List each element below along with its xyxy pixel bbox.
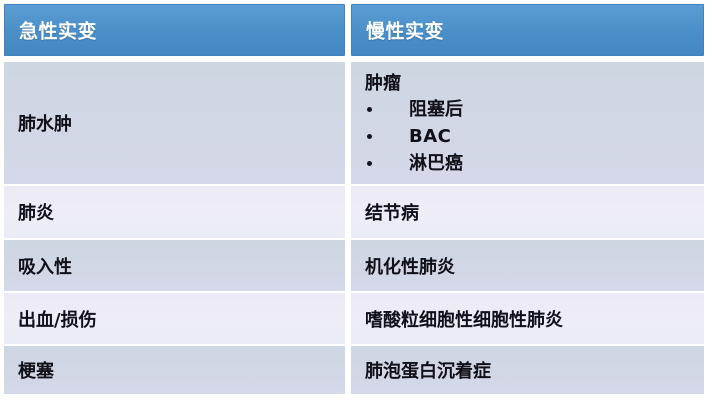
table-row: 出血/损伤 嗜酸粒细胞性细胞性肺炎 xyxy=(4,293,704,344)
row-3-chronic-label: 机化性肺炎 xyxy=(365,253,455,279)
table-row: 吸入性 机化性肺炎 xyxy=(4,240,704,291)
list-item: 阻塞后 xyxy=(365,96,696,123)
table-row: 梗塞 肺泡蛋白沉着症 xyxy=(4,346,704,394)
row-5-acute-label: 梗塞 xyxy=(18,357,54,383)
row-1-cell-chronic: 肿瘤 阻塞后 BAC 淋巴癌 xyxy=(351,62,704,184)
table-row: 肺炎 结节病 xyxy=(4,186,704,238)
row-4-cell-acute: 出血/损伤 xyxy=(4,293,345,344)
list-item-label: BAC xyxy=(409,126,451,147)
table-header-row: 急性实变 慢性实变 xyxy=(4,4,704,56)
bullet-icon xyxy=(367,107,372,112)
header-label-chronic: 慢性实变 xyxy=(366,17,444,44)
bullet-icon xyxy=(367,134,372,139)
list-item-label: 淋巴癌 xyxy=(409,153,463,174)
row-2-cell-acute: 肺炎 xyxy=(4,186,345,238)
list-item-label: 阻塞后 xyxy=(409,99,463,120)
row-4-cell-chronic: 嗜酸粒细胞性细胞性肺炎 xyxy=(351,293,704,344)
row-5-chronic-label: 肺泡蛋白沉着症 xyxy=(365,357,491,383)
row-2-chronic-label: 结节病 xyxy=(365,199,419,225)
tumor-bullet-list: 阻塞后 BAC 淋巴癌 xyxy=(365,96,696,177)
row-5-cell-acute: 梗塞 xyxy=(4,346,345,394)
row-1-acute-label: 肺水肿 xyxy=(18,110,72,136)
list-item: BAC xyxy=(365,123,696,150)
list-item: 淋巴癌 xyxy=(365,150,696,177)
row-4-acute-label: 出血/损伤 xyxy=(18,306,97,332)
tumor-title: 肿瘤 xyxy=(365,74,696,94)
header-cell-acute: 急性实变 xyxy=(4,4,345,56)
header-cell-chronic: 慢性实变 xyxy=(351,4,704,56)
table-row: 肺水肿 肿瘤 阻塞后 BAC 淋巴癌 xyxy=(4,62,704,184)
row-2-acute-label: 肺炎 xyxy=(18,199,54,225)
bullet-icon xyxy=(367,161,372,166)
row-3-cell-acute: 吸入性 xyxy=(4,240,345,291)
row-3-cell-chronic: 机化性肺炎 xyxy=(351,240,704,291)
row-3-acute-label: 吸入性 xyxy=(18,253,72,279)
row-1-cell-acute: 肺水肿 xyxy=(4,62,345,184)
header-label-acute: 急性实变 xyxy=(19,17,97,44)
row-4-chronic-label: 嗜酸粒细胞性细胞性肺炎 xyxy=(365,306,563,332)
tumor-group: 肿瘤 阻塞后 BAC 淋巴癌 xyxy=(365,74,696,177)
row-2-cell-chronic: 结节病 xyxy=(351,186,704,238)
row-5-cell-chronic: 肺泡蛋白沉着症 xyxy=(351,346,704,394)
comparison-table: 急性实变 慢性实变 肺水肿 肿瘤 阻塞后 BAC xyxy=(4,4,704,394)
